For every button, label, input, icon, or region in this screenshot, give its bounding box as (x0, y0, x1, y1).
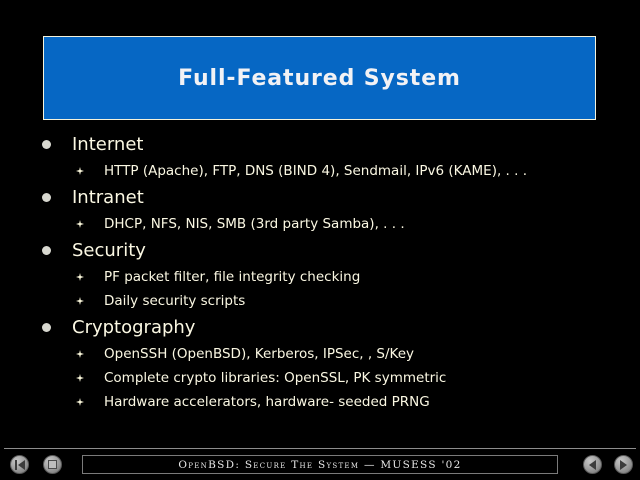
bullet-label: Cryptography (72, 317, 195, 338)
footer-divider (4, 448, 636, 449)
bullet-dot-icon (42, 246, 51, 255)
nav-previous-button[interactable] (583, 455, 602, 474)
bullet-label: Internet (72, 134, 143, 155)
bullet-dot-icon (42, 323, 51, 332)
sub-bullet-item: HTTP (Apache), FTP, DNS (BIND 4), Sendma… (0, 159, 640, 183)
sub-bullet-label: Hardware accelerators, hardware- seeded … (104, 394, 430, 410)
nav-first-button[interactable] (10, 455, 29, 474)
slide-title-banner: Full-Featured System (43, 36, 596, 120)
diamond-bullet-icon (76, 273, 84, 281)
previous-arrow-icon (584, 456, 601, 473)
bullet-item-cryptography: Cryptography (0, 313, 640, 342)
diamond-bullet-icon (76, 297, 84, 305)
bullet-item-security: Security (0, 236, 640, 265)
bullet-dot-icon (42, 193, 51, 202)
nav-index-button[interactable] (43, 455, 62, 474)
bullet-label: Security (72, 240, 146, 261)
bullet-label: Intranet (72, 187, 144, 208)
sub-bullet-item: Hardware accelerators, hardware- seeded … (0, 390, 640, 414)
slide-footer: OpenBSD: Secure The System — MUSESS '02 (0, 452, 640, 478)
slide-body: Internet HTTP (Apache), FTP, DNS (BIND 4… (0, 130, 640, 414)
sub-bullet-item: DHCP, NFS, NIS, SMB (3rd party Samba), .… (0, 212, 640, 236)
sub-bullet-label: Daily security scripts (104, 293, 245, 309)
diamond-bullet-icon (76, 398, 84, 406)
page-title: Full-Featured System (178, 66, 461, 91)
bullet-dot-icon (42, 140, 51, 149)
bullet-item-internet: Internet (0, 130, 640, 159)
bullet-item-intranet: Intranet (0, 183, 640, 212)
skip-to-first-icon (11, 456, 28, 473)
sub-bullet-item: PF packet filter, file integrity checkin… (0, 265, 640, 289)
sub-bullet-label: Complete crypto libraries: OpenSSL, PK s… (104, 370, 446, 386)
sub-bullet-label: PF packet filter, file integrity checkin… (104, 269, 360, 285)
diamond-bullet-icon (76, 374, 84, 382)
presentation-slide: Full-Featured System Internet HTTP (Apac… (0, 0, 640, 480)
stop-square-icon (44, 456, 61, 473)
footer-title: OpenBSD: Secure The System — MUSESS '02 (178, 459, 461, 471)
sub-bullet-item: OpenSSH (OpenBSD), Kerberos, IPSec, , S/… (0, 342, 640, 366)
next-arrow-icon (615, 456, 632, 473)
sub-bullet-label: OpenSSH (OpenBSD), Kerberos, IPSec, , S/… (104, 346, 414, 362)
nav-next-button[interactable] (614, 455, 633, 474)
footer-title-box: OpenBSD: Secure The System — MUSESS '02 (82, 455, 558, 474)
diamond-bullet-icon (76, 350, 84, 358)
sub-bullet-label: DHCP, NFS, NIS, SMB (3rd party Samba), .… (104, 216, 405, 232)
diamond-bullet-icon (76, 167, 84, 175)
sub-bullet-item: Complete crypto libraries: OpenSSL, PK s… (0, 366, 640, 390)
sub-bullet-label: HTTP (Apache), FTP, DNS (BIND 4), Sendma… (104, 163, 527, 179)
sub-bullet-item: Daily security scripts (0, 289, 640, 313)
diamond-bullet-icon (76, 220, 84, 228)
